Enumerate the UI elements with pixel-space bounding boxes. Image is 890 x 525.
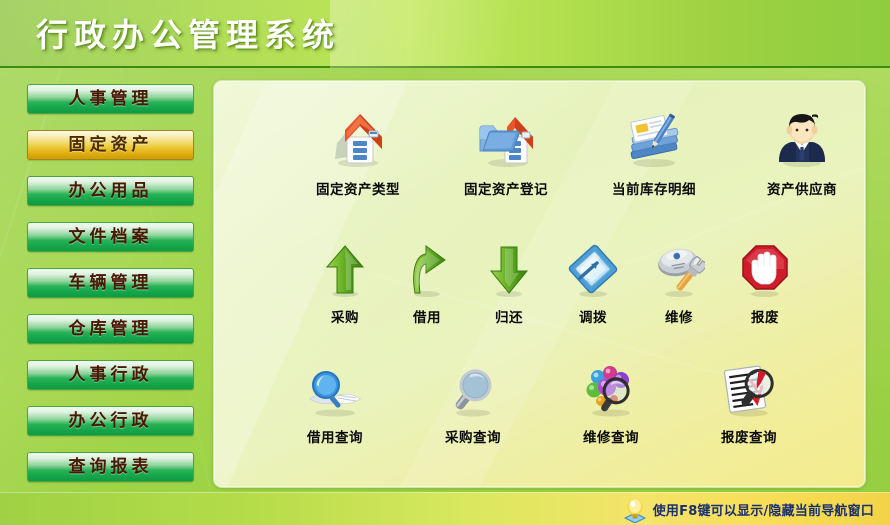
arrow-curve-icon bbox=[403, 243, 451, 303]
content-panel: 固定资产类型 bbox=[213, 80, 866, 488]
books-pen-icon bbox=[623, 109, 685, 175]
lightbulb-icon bbox=[623, 497, 647, 523]
icon-tile-baofeichaxun[interactable]: 报废查询 bbox=[706, 363, 792, 446]
sidebar-item-renshiguanli[interactable]: 人事管理 bbox=[27, 84, 194, 114]
icon-tile-guihuan[interactable]: 归还 bbox=[484, 243, 534, 326]
icon-label: 采购查询 bbox=[445, 426, 501, 446]
status-hint-group: 使用F8键可以显示/隐藏当前导航窗口 bbox=[623, 497, 874, 522]
icon-tile-zichangongyingshang[interactable]: 资产供应商 bbox=[754, 109, 850, 198]
icon-label: 借用查询 bbox=[307, 426, 363, 446]
arrow-down-icon bbox=[485, 243, 533, 303]
icon-label: 维修查询 bbox=[583, 426, 639, 446]
icon-label: 报废 bbox=[751, 306, 779, 326]
sidebar-item-bangongxingzheng[interactable]: 办公行政 bbox=[27, 406, 194, 436]
transfer-icon bbox=[567, 243, 619, 303]
icon-label: 报废查询 bbox=[721, 426, 777, 446]
icon-tile-diaobo[interactable]: 调拨 bbox=[566, 243, 620, 326]
icon-tile-gudingzichanleixing[interactable]: 固定资产类型 bbox=[310, 109, 406, 198]
icon-tile-jieyong[interactable]: 借用 bbox=[402, 243, 452, 326]
sidebar-item-wenjiandangan[interactable]: 文件档案 bbox=[27, 222, 194, 252]
app-header: 行政办公管理系统 bbox=[0, 0, 890, 68]
sidebar-nav: 人事管理 固定资产 办公用品 文件档案 车辆管理 仓库管理 人事行政 办公行政 … bbox=[0, 70, 218, 525]
spheres-search-icon bbox=[580, 363, 642, 423]
sidebar-item-gudingzichan[interactable]: 固定资产 bbox=[27, 130, 194, 160]
icon-label: 采购 bbox=[331, 306, 359, 326]
application-window: 行政办公管理系统 人事管理 固定资产 办公用品 文件档案 车辆管理 仓库管理 人… bbox=[0, 0, 890, 525]
icon-label: 维修 bbox=[665, 306, 693, 326]
sidebar-item-cheliangguanli[interactable]: 车辆管理 bbox=[27, 268, 194, 298]
businessman-icon bbox=[771, 109, 833, 175]
icon-label: 归还 bbox=[495, 306, 523, 326]
sidebar-item-bangongyongpin[interactable]: 办公用品 bbox=[27, 176, 194, 206]
sidebar-item-cangkuguanli[interactable]: 仓库管理 bbox=[27, 314, 194, 344]
sidebar-item-chaxunbaobiao[interactable]: 查询报表 bbox=[27, 452, 194, 482]
icon-tile-gudingzichandengji[interactable]: 固定资产登记 bbox=[458, 109, 554, 198]
page-title: 行政办公管理系统 bbox=[36, 10, 340, 56]
mouse-wrench-icon bbox=[653, 243, 705, 303]
icon-tile-caigou[interactable]: 采购 bbox=[320, 243, 370, 326]
icon-label: 固定资产类型 bbox=[316, 178, 400, 198]
house-folder-icon bbox=[475, 109, 537, 175]
icon-label: 调拨 bbox=[579, 306, 607, 326]
icon-label: 当前库存明细 bbox=[612, 178, 696, 198]
stop-hand-icon bbox=[739, 243, 791, 303]
status-bar: 使用F8键可以显示/隐藏当前导航窗口 bbox=[0, 492, 890, 525]
icon-label: 固定资产登记 bbox=[464, 178, 548, 198]
book-search-icon bbox=[304, 363, 366, 423]
icon-tile-dangqiankucunmingxi[interactable]: 当前库存明细 bbox=[606, 109, 702, 198]
arrow-up-icon bbox=[321, 243, 369, 303]
icon-tile-weixiu[interactable]: 维修 bbox=[652, 243, 706, 326]
sidebar-item-renshixingzheng[interactable]: 人事行政 bbox=[27, 360, 194, 390]
icon-label: 资产供应商 bbox=[767, 178, 837, 198]
icon-tile-baofei[interactable]: 报废 bbox=[738, 243, 792, 326]
icon-row-3: 借用查询 采购查 bbox=[214, 363, 866, 446]
icon-row-1: 固定资产类型 bbox=[214, 109, 866, 198]
icon-label: 借用 bbox=[413, 306, 441, 326]
icon-row-2: 采购 借用 bbox=[214, 243, 866, 326]
magnifier-icon bbox=[442, 363, 504, 423]
icon-tile-weixiuchaxun[interactable]: 维修查询 bbox=[568, 363, 654, 446]
icon-tile-jieyongchaxun[interactable]: 借用查询 bbox=[292, 363, 378, 446]
status-hint-text: 使用F8键可以显示/隐藏当前导航窗口 bbox=[653, 500, 874, 519]
house-icon bbox=[327, 109, 389, 175]
document-search-icon bbox=[718, 363, 780, 423]
icon-tile-caigouchaxun[interactable]: 采购查询 bbox=[430, 363, 516, 446]
